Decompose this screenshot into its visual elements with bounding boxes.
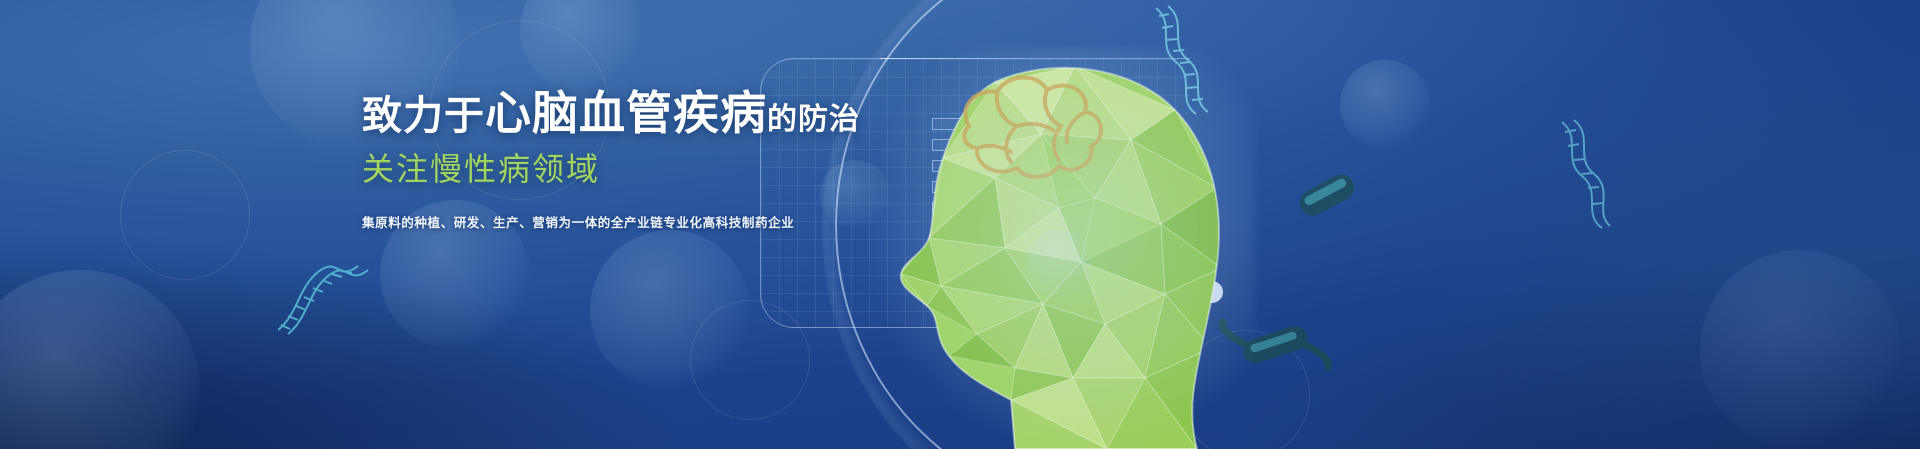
cell-circle: [120, 150, 250, 280]
cell-circle: [520, 0, 640, 90]
dna-helix-icon: [1552, 120, 1612, 230]
page-description: 集原料的种植、研发、生产、营销为一体的全产业链专业化高科技制药企业: [362, 214, 792, 233]
headline-emphasis: 心脑血管疾病: [485, 87, 767, 139]
page-headline: 致力于心脑血管疾病的防治: [362, 88, 792, 140]
cell-circle: [590, 230, 750, 390]
cell-circle: [1700, 250, 1900, 449]
bacteria-icon: [1282, 160, 1372, 230]
headline-lead: 致力于: [362, 94, 485, 138]
hero-banner: 致力于心脑血管疾病的防治 关注慢性病领域 集原料的种植、研发、生产、营销为一体的…: [0, 0, 1920, 449]
cell-circle: [1024, 230, 1094, 300]
cell-circle: [0, 270, 200, 449]
page-subheadline: 关注慢性病领域: [362, 150, 792, 188]
dna-helix-icon: [272, 258, 392, 338]
banner-copy: 致力于心脑血管疾病的防治 关注慢性病领域 集原料的种植、研发、生产、营销为一体的…: [362, 88, 792, 233]
background-glow-right: [1360, 0, 1920, 449]
